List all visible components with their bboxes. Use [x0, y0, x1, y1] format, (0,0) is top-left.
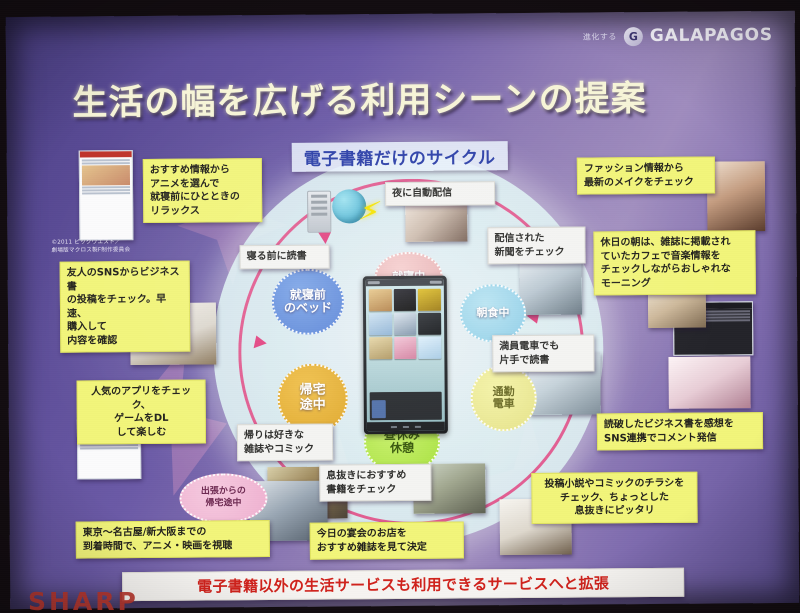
bottom-banner-text: 電子書籍以外の生活サービスも利用できるサービスへと拡張 [197, 572, 609, 596]
photo-woman-makeup [707, 161, 766, 231]
note-break-books: 息抜きにおすすめ 書籍をチェック [319, 464, 431, 502]
book-cover [418, 289, 441, 311]
tablet-navigation-bar[interactable] [367, 422, 445, 432]
projected-slide: 進化する G GALAPAGOS 生活の幅を広げる利用シーンの提案 電子書籍だけ… [6, 11, 800, 609]
sharp-logo: SHARP [28, 587, 139, 613]
note-crowded-train: 満員電車でも 片手で読書 [492, 334, 594, 372]
cycle-node-trip-label-2: 帰宅途中 [205, 498, 241, 510]
note-break-books-text: 息抜きにおすすめ 書籍をチェック [326, 469, 424, 497]
copyright-notice: ©2011 ビックウエスト／ 劇場版マクロス製F制作委員会 [51, 238, 156, 256]
note-apps-games-text: 人気のアプリをチェック、 ゲームをDL して楽しむ [84, 385, 199, 440]
note-flyer-comic: 投稿小説やコミックのチラシを チェック、ちょっとした 息抜きにピッタリ [531, 472, 697, 524]
page-title: 生活の幅を広げる利用シーンの提案 [72, 70, 647, 126]
note-fashion-makeup: ファッション情報から 最新のメイクをチェック [577, 157, 715, 195]
note-apps-games: 人気のアプリをチェック、 ゲームをDL して楽しむ [77, 380, 206, 445]
note-shinkansen-text: 東京～名古屋/新大阪までの 到着時間で、アニメ・映画を視聴 [83, 525, 263, 553]
cycle-node-breakfast[interactable]: 朝食中 [460, 284, 526, 343]
note-way-home-text: 帰りは好きな 雑誌やコミック [244, 429, 326, 457]
cycle-node-bed-label-2: のベッド [284, 302, 332, 316]
tablet-screen [366, 279, 445, 432]
note-sns-comment: 読破したビジネス書を感想を SNS連携でコメント発信 [597, 412, 763, 450]
photo-sleeping-person [405, 199, 467, 241]
cycle-node-breakfast-label: 朝食中 [476, 307, 509, 320]
cycle-node-train-label-2: 電車 [493, 398, 515, 410]
note-fashion-makeup-text: ファッション情報から 最新のメイクをチェック [584, 162, 708, 190]
cycle-title-box: 電子書籍だけのサイクル [292, 141, 508, 172]
note-anime-relax-text: おすすめ情報から アニメを選んで 就寝前にひとときの リラックス [150, 163, 255, 218]
cycle-node-lunch-label-2: 休憩 [390, 442, 414, 456]
photo-man-breakfast [520, 259, 582, 315]
book-cover [418, 313, 441, 335]
note-holiday-cafe: 休日の朝は、雑誌に掲載され ていたカフェで音楽情報を チェックしながらおしゃれな… [593, 230, 755, 295]
note-sns-business-text: 友人のSNSからビジネス書 の投稿をチェック。早速、 購入して 内容を確認 [67, 266, 184, 348]
cycle-node-bed[interactable]: 就寝前 のベッド [272, 268, 345, 335]
brand-name: GALAPAGOS [650, 25, 773, 46]
note-before-sleep: 寝る前に読書 [239, 245, 329, 269]
cycle-node-trip-label-1: 出張からの [201, 487, 246, 499]
note-newspaper-line-1: 配信された 新聞をチェック [494, 232, 578, 260]
note-crowded-train-text: 満員電車でも 片手で読書 [499, 340, 587, 368]
book-cover [369, 313, 392, 335]
tablet-bookshelf [366, 286, 445, 391]
galapagos-glyph-icon: G [624, 27, 643, 46]
photo-gift-shop [668, 356, 750, 409]
server-icon [307, 191, 331, 233]
book-cover [369, 337, 392, 359]
tablet-featured-strip [370, 392, 442, 421]
cycle-node-train[interactable]: 通勤 電車 [470, 365, 537, 432]
book-cover [419, 337, 442, 359]
galapagos-glyph-letter: G [629, 31, 638, 42]
note-newspaper: 配信された 新聞をチェック [487, 227, 585, 265]
cycle-node-home-label-2: 途中 [300, 399, 326, 414]
bottom-banner: 電子書籍以外の生活サービスも利用できるサービスへと拡張 [122, 568, 684, 601]
note-holiday-cafe-text: 休日の朝は、雑誌に掲載され ていたカフェで音楽情報を チェックしながらおしゃれな… [600, 235, 748, 290]
brand-prefix: 進化する [583, 31, 617, 42]
photo-anime-website [79, 150, 134, 240]
note-sns-business: 友人のSNSからビジネス書 の投稿をチェック。早速、 購入して 内容を確認 [60, 261, 191, 353]
note-sns-comment-text: 読破したビジネス書を感想を SNS連携でコメント発信 [604, 417, 756, 445]
cycle-node-home-label-1: 帰宅 [300, 384, 326, 399]
book-cover [394, 337, 417, 359]
screenshot-root: 進化する G GALAPAGOS 生活の幅を広げる利用シーンの提案 電子書籍だけ… [0, 0, 800, 613]
book-cover [369, 289, 392, 311]
cycle-title-text: 電子書籍だけのサイクル [304, 148, 496, 170]
book-cover [393, 289, 416, 311]
note-flyer-comic-text: 投稿小説やコミックのチラシを チェック、ちょっとした 息抜きにピッタリ [538, 477, 690, 519]
note-shinkansen: 東京～名古屋/新大阪までの 到着時間で、アニメ・映画を視聴 [76, 520, 270, 559]
book-cover [394, 313, 417, 335]
note-before-sleep-text: 寝る前に読書 [247, 250, 323, 264]
note-party-place-text: 今日の宴会のお店を おすすめ雑誌を見て決定 [317, 527, 457, 555]
note-way-home: 帰りは好きな 雑誌やコミック [237, 424, 333, 462]
note-anime-relax: おすすめ情報から アニメを選んで 就寝前にひとときの リラックス [143, 158, 262, 223]
tablet-device[interactable] [363, 276, 448, 435]
note-auto-delivery-line-1: 夜に自動配信 [392, 186, 488, 200]
note-auto-delivery: 夜に自動配信 [385, 181, 495, 205]
note-party-place: 今日の宴会のお店を おすすめ雑誌を見て決定 [310, 522, 464, 560]
brand-logo: 進化する G GALAPAGOS [583, 25, 773, 46]
website-body [80, 157, 133, 239]
